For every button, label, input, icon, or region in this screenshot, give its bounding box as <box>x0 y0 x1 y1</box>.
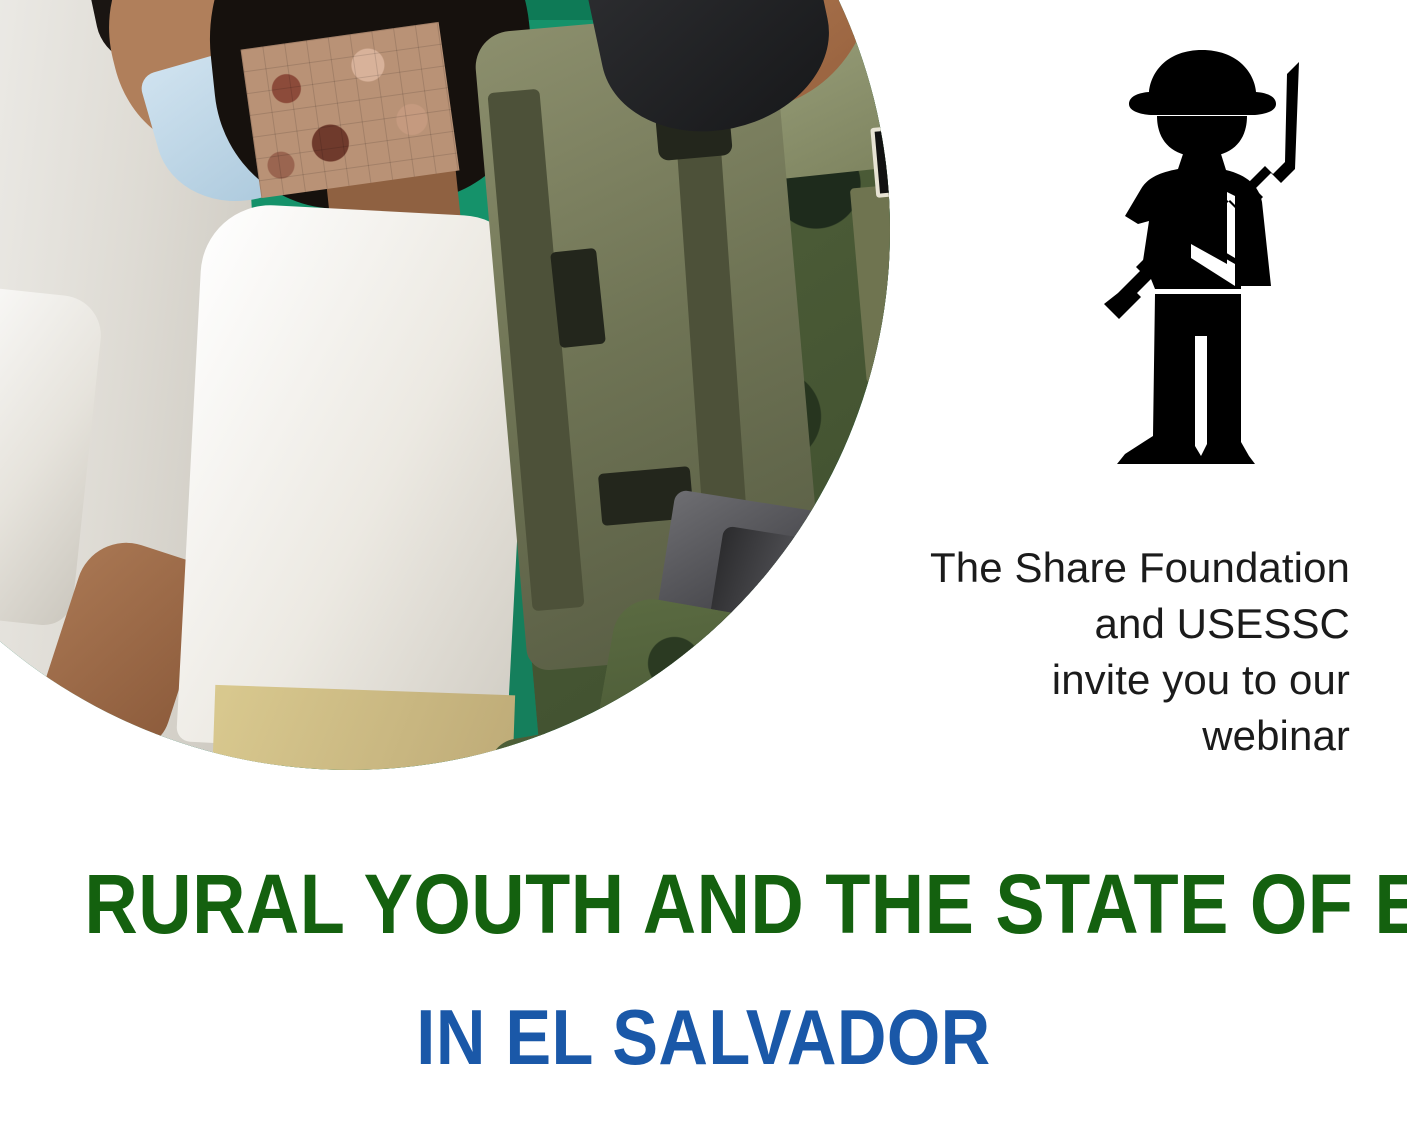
soldier-with-rifle-icon <box>1095 36 1310 481</box>
webinar-poster: VULCANO <box>0 0 1407 1127</box>
pixelated-face-redaction <box>241 22 460 198</box>
photo-circle: VULCANO <box>0 0 890 770</box>
invite-line-2: and USESSC <box>840 596 1350 652</box>
invite-line-1: The Share Foundation <box>840 540 1350 596</box>
invite-line-4: webinar <box>840 708 1350 764</box>
soldier-name-patch-label: VULCANO <box>883 130 890 180</box>
headline-block: RURAL YOUTH AND THE STATE OF EXCEPTION I… <box>0 862 1407 1076</box>
youth-trousers <box>205 685 515 770</box>
photo-image: VULCANO <box>0 0 890 770</box>
headline-subtitle: IN EL SALVADOR <box>84 998 1322 1076</box>
invite-line-3: invite you to our <box>840 652 1350 708</box>
invite-text: The Share Foundation and USESSC invite y… <box>840 540 1350 763</box>
youth-tshirt <box>176 202 534 759</box>
vest-buckle <box>550 248 606 348</box>
headline-title: RURAL YOUTH AND THE STATE OF EXCEPTION <box>84 862 1322 946</box>
